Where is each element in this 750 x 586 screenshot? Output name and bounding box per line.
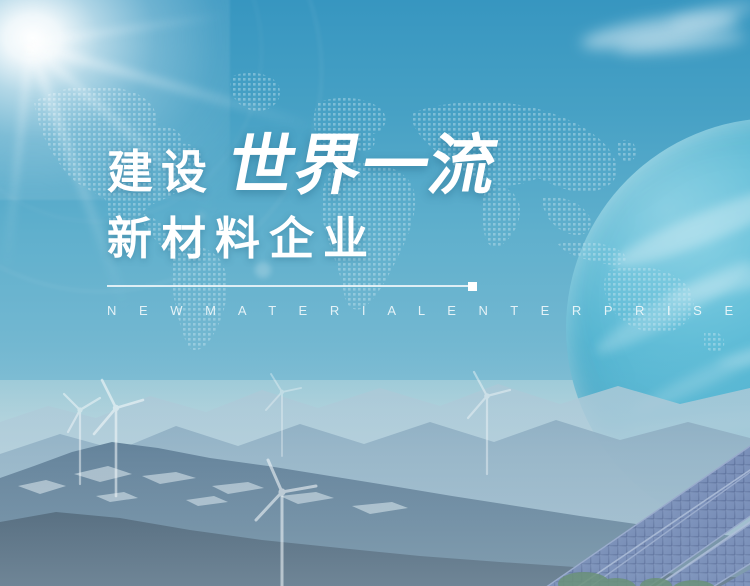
headline-divider [107, 285, 475, 287]
wind-turbine [262, 372, 302, 456]
headline-lead-text: 建设 [107, 149, 215, 195]
hero-banner: 建设 世界一流 新材料企业 N E W M A T E R I A L E N … [0, 0, 750, 586]
headline-line-2: 新材料企业 [107, 216, 667, 261]
wind-turbine [246, 458, 318, 586]
wind-turbine [86, 378, 146, 496]
headline-emphasis-text: 世界一流 [223, 132, 504, 198]
headline-block: 建设 世界一流 新材料企业 N E W M A T E R I A L E N … [107, 132, 667, 318]
headline-subtitle: N E W M A T E R I A L E N T E R P R I S … [107, 303, 667, 318]
solar-panel-array [456, 420, 750, 586]
headline-line-1: 建设 世界一流 [107, 132, 667, 204]
